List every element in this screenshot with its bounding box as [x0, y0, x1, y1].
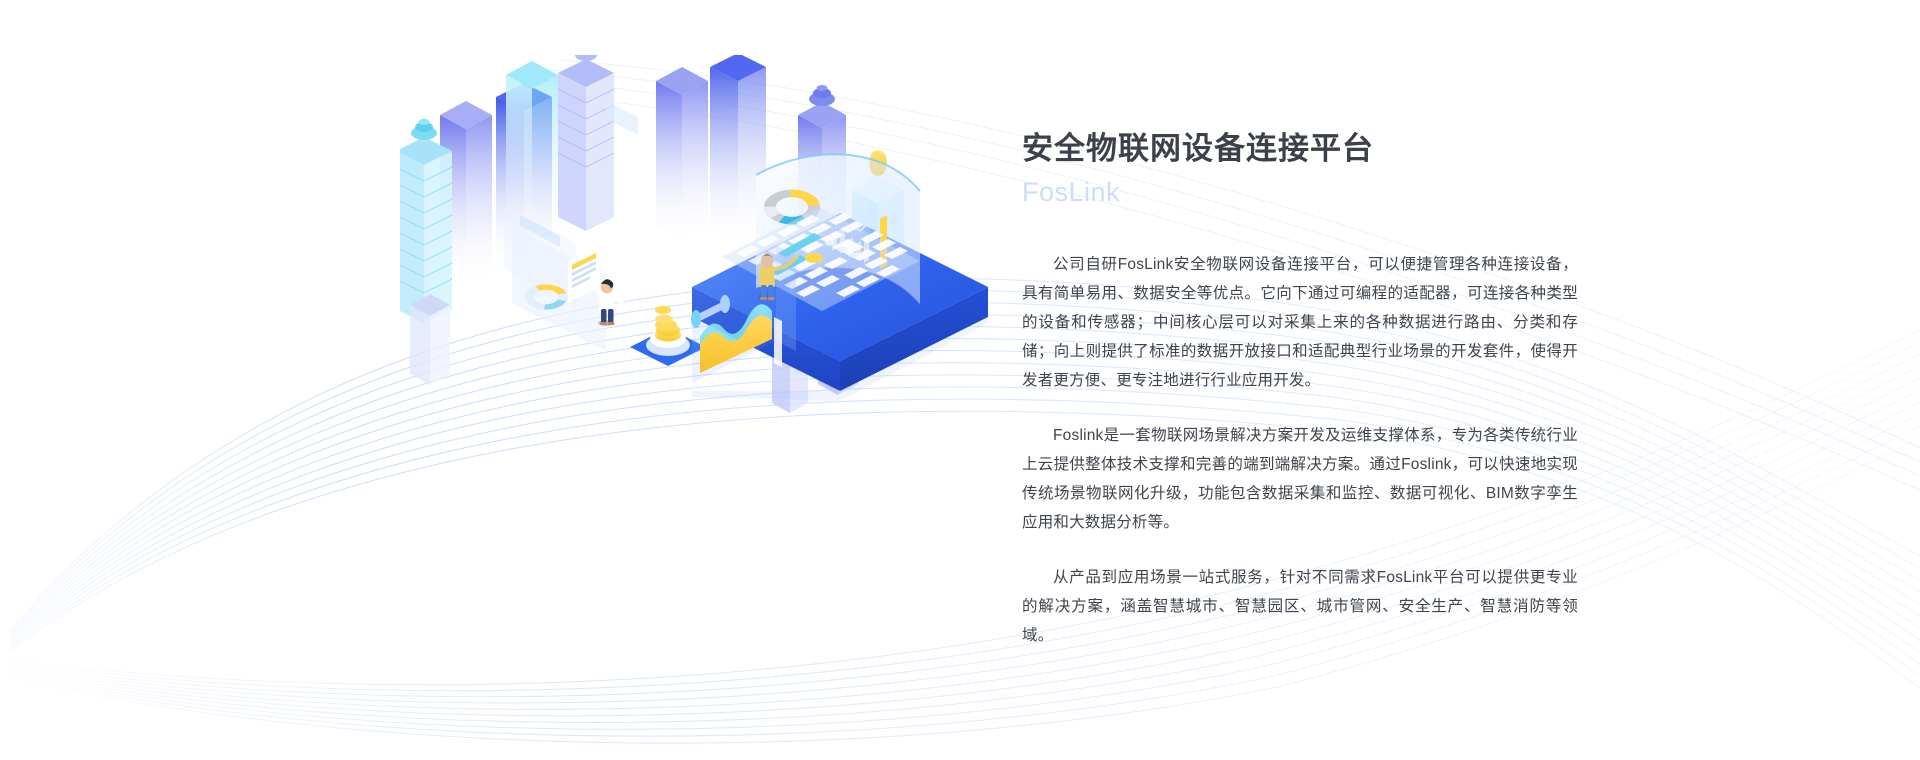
description-paragraphs: 公司自研FosLink安全物联网设备连接平台，可以便捷管理各种连接设备，具有简单…	[1022, 250, 1602, 650]
building-cyan-tall	[506, 61, 558, 227]
description-paragraph-3: 从产品到应用场景一站式服务，针对不同需求FosLink平台可以提供更专业的解决方…	[1022, 563, 1578, 650]
highlight-dot-yellow	[805, 253, 823, 263]
page-title: 安全物联网设备连接平台	[1022, 130, 1602, 169]
hero-content: 安全物联网设备连接平台 FosLink 公司自研FosLink安全物联网设备连接…	[1022, 130, 1602, 650]
building-purple-right-a	[656, 67, 708, 241]
building-stepped-center	[558, 55, 614, 231]
isometric-iot-platform-illustration	[400, 55, 1000, 435]
description-paragraph-2: Foslink是一套物联网场景解决方案开发及运维支撑体系，专为各类传统行业上云提…	[1022, 421, 1578, 537]
area-wave-chart-box	[692, 245, 796, 383]
person-white-shirt	[597, 279, 626, 326]
building-pale-left-fg	[410, 294, 450, 385]
description-paragraph-1: 公司自研FosLink安全物联网设备连接平台，可以便捷管理各种连接设备，具有简单…	[1022, 250, 1578, 395]
hero-page: 安全物联网设备连接平台 FosLink 公司自研FosLink安全物联网设备连接…	[0, 0, 1920, 760]
product-subtitle: FosLink	[1022, 175, 1602, 210]
coin-stack	[655, 306, 681, 342]
building-cyan-stepped	[400, 119, 452, 323]
